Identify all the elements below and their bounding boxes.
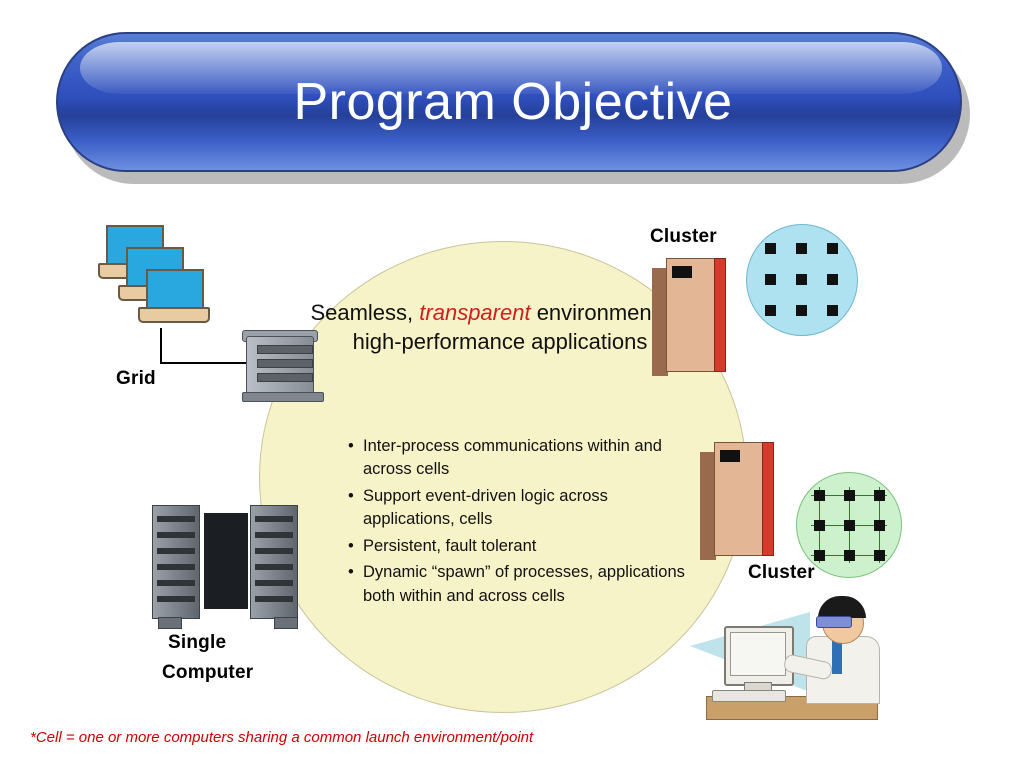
server-slot <box>157 564 195 570</box>
cluster-node-dot <box>814 520 825 531</box>
server-slot <box>255 548 293 554</box>
label-cluster-bottom: Cluster <box>748 562 815 584</box>
rack-stripe <box>714 258 726 372</box>
server-foot <box>158 617 182 629</box>
cluster-node-dot <box>827 305 838 316</box>
cluster-node-dot <box>765 305 776 316</box>
cluster-node-dot <box>765 243 776 254</box>
laptop-icon <box>138 269 208 331</box>
ellipse-headline: Seamless, transparent environment for hi… <box>300 298 700 356</box>
server-slot <box>255 580 293 586</box>
server-slot <box>255 564 293 570</box>
rack-stripe <box>762 442 774 556</box>
person-tie <box>832 640 842 674</box>
cluster-node-dot <box>827 274 838 285</box>
server-column-left <box>152 505 200 619</box>
cluster-node-dot <box>874 520 885 531</box>
grid-server-icon <box>242 330 322 402</box>
cluster-rack-top-icon <box>652 258 730 376</box>
server-body <box>246 336 314 394</box>
rack-panel <box>720 450 740 462</box>
grid-connector-horizontal <box>160 362 246 364</box>
grid-connector-vertical <box>160 328 162 364</box>
person-hair <box>818 596 866 618</box>
rack-panel <box>672 266 692 278</box>
list-item: Persistent, fault tolerant <box>363 535 695 558</box>
list-item: Inter-process communications within and … <box>363 435 695 482</box>
footnote: *Cell = one or more computers sharing a … <box>30 729 533 746</box>
server-slot <box>255 532 293 538</box>
cluster-node-dot <box>796 305 807 316</box>
label-grid: Grid <box>116 368 156 390</box>
cluster-node-dot <box>796 274 807 285</box>
list-item: Dynamic “spawn” of processes, applicatio… <box>363 561 695 608</box>
server-slot <box>157 580 195 586</box>
label-cluster-top: Cluster <box>650 226 717 248</box>
cluster-rack-bottom-icon <box>700 442 778 560</box>
monitor-screen <box>730 632 786 676</box>
server-slot <box>157 548 195 554</box>
label-single-computer-line1: Single <box>168 632 226 654</box>
title-banner: Program Objective <box>56 32 970 184</box>
headline-emphasis: transparent <box>419 300 530 325</box>
server-slot <box>255 596 293 602</box>
server-foot <box>274 617 298 629</box>
cluster-node-dot <box>827 243 838 254</box>
list-item: Support event-driven logic across applic… <box>363 485 695 532</box>
ellipse-bullet-list: Inter-process communications within and … <box>345 435 695 611</box>
laptop-base <box>138 307 210 323</box>
cluster-node-dot <box>844 520 855 531</box>
cluster-circle-top <box>746 224 858 336</box>
cluster-node-dot <box>874 550 885 561</box>
server-slot <box>257 373 313 382</box>
server-slot <box>255 516 293 522</box>
laptop-screen <box>146 269 204 309</box>
cluster-node-dot <box>844 550 855 561</box>
single-computer-icon <box>152 505 302 627</box>
headline-part1: Seamless, <box>310 300 419 325</box>
server-gap <box>204 513 248 609</box>
server-slot <box>157 596 195 602</box>
keyboard-icon <box>712 690 786 702</box>
server-base <box>242 392 324 402</box>
cluster-node-dot <box>844 490 855 501</box>
cluster-node-dot <box>765 274 776 285</box>
server-slot <box>157 532 195 538</box>
cluster-node-dot <box>814 550 825 561</box>
server-slot <box>157 516 195 522</box>
cluster-node-dot <box>796 243 807 254</box>
grid-laptops-icon <box>98 225 228 345</box>
server-column-right <box>250 505 298 619</box>
server-slot <box>257 345 313 354</box>
cluster-node-dot <box>874 490 885 501</box>
person-glasses-icon <box>816 616 852 628</box>
page-title: Program Objective <box>56 32 970 172</box>
label-single-computer-line2: Computer <box>162 662 253 684</box>
cluster-node-dot <box>814 490 825 501</box>
server-slot <box>257 359 313 368</box>
